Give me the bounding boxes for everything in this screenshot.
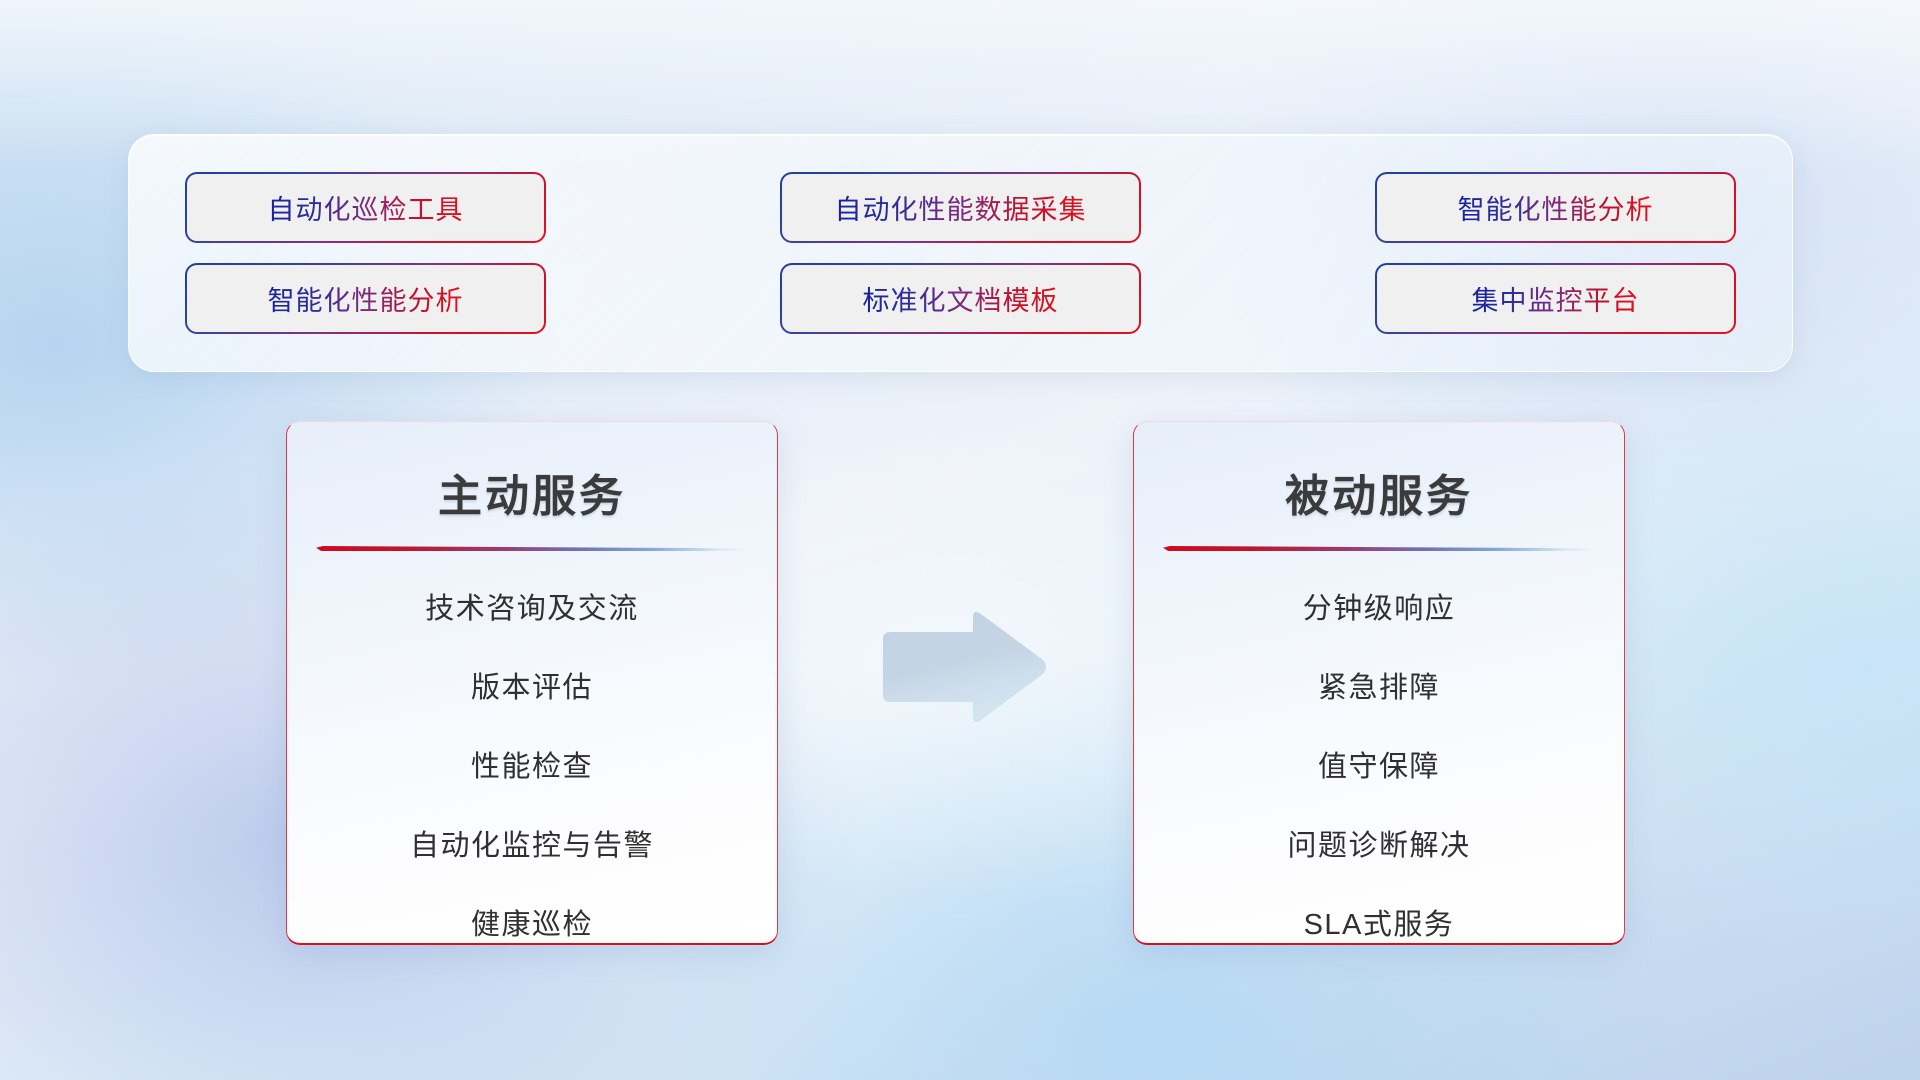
capability-tag-automated-inspection-tool[interactable]: 自动化巡检工具 <box>187 174 544 241</box>
list-item: 紧急排障 <box>1318 664 1440 706</box>
capability-tag-label: 智能化性能分析 <box>268 279 464 318</box>
service-card-proactive: 主动服务 技术咨询及交流 版本评估 性能检查 自动化监控与告警 健康巡检 <box>286 421 778 945</box>
list-item: 性能检查 <box>471 743 593 785</box>
capability-tag-automated-performance-data-collection[interactable]: 自动化性能数据采集 <box>782 174 1139 241</box>
capability-tag-row-2: 智能化性能分析 标准化文档模板 集中监控平台 <box>187 265 1734 332</box>
list-item: 健康巡检 <box>471 901 593 943</box>
capability-tag-standardized-doc-template[interactable]: 标准化文档模板 <box>782 265 1139 332</box>
list-item: 技术咨询及交流 <box>425 585 639 627</box>
list-item: 值守保障 <box>1318 743 1440 785</box>
list-item: 自动化监控与告警 <box>410 822 654 864</box>
card-title-divider-bar <box>316 546 748 551</box>
list-item: 分钟级响应 <box>1303 585 1456 627</box>
card-title: 被动服务 <box>1285 460 1473 524</box>
capability-tag-label: 自动化性能数据采集 <box>835 188 1087 227</box>
capability-tag-label: 集中监控平台 <box>1472 279 1640 318</box>
card-title: 主动服务 <box>438 460 626 524</box>
capability-tag-label: 自动化巡检工具 <box>268 188 464 227</box>
list-item: 版本评估 <box>471 664 593 706</box>
card-title-divider <box>1163 546 1595 551</box>
capability-panel: 自动化巡检工具 自动化性能数据采集 智能化性能分析 智能化性能分析 标准化文档模… <box>128 134 1793 372</box>
service-item-list: 分钟级响应 紧急排障 值守保障 问题诊断解决 SLA式服务 <box>1134 585 1624 943</box>
service-item-list: 技术咨询及交流 版本评估 性能检查 自动化监控与告警 健康巡检 <box>287 585 777 943</box>
capability-tag-intelligent-performance-analysis-b[interactable]: 智能化性能分析 <box>187 265 544 332</box>
capability-tag-label: 智能化性能分析 <box>1458 188 1654 227</box>
card-title-divider <box>316 546 748 551</box>
list-item: 问题诊断解决 <box>1287 822 1470 864</box>
card-title-divider-bar <box>1163 546 1595 551</box>
capability-tag-intelligent-performance-analysis-a[interactable]: 智能化性能分析 <box>1377 174 1734 241</box>
capability-tag-row-1: 自动化巡检工具 自动化性能数据采集 智能化性能分析 <box>187 174 1734 241</box>
capability-tag-label: 标准化文档模板 <box>863 279 1059 318</box>
service-card-reactive: 被动服务 分钟级响应 紧急排障 值守保障 问题诊断解决 SLA式服务 <box>1133 421 1625 945</box>
list-item: SLA式服务 <box>1304 901 1455 943</box>
capability-tag-centralized-monitoring-platform[interactable]: 集中监控平台 <box>1377 265 1734 332</box>
arrow-right-icon <box>877 608 1049 726</box>
